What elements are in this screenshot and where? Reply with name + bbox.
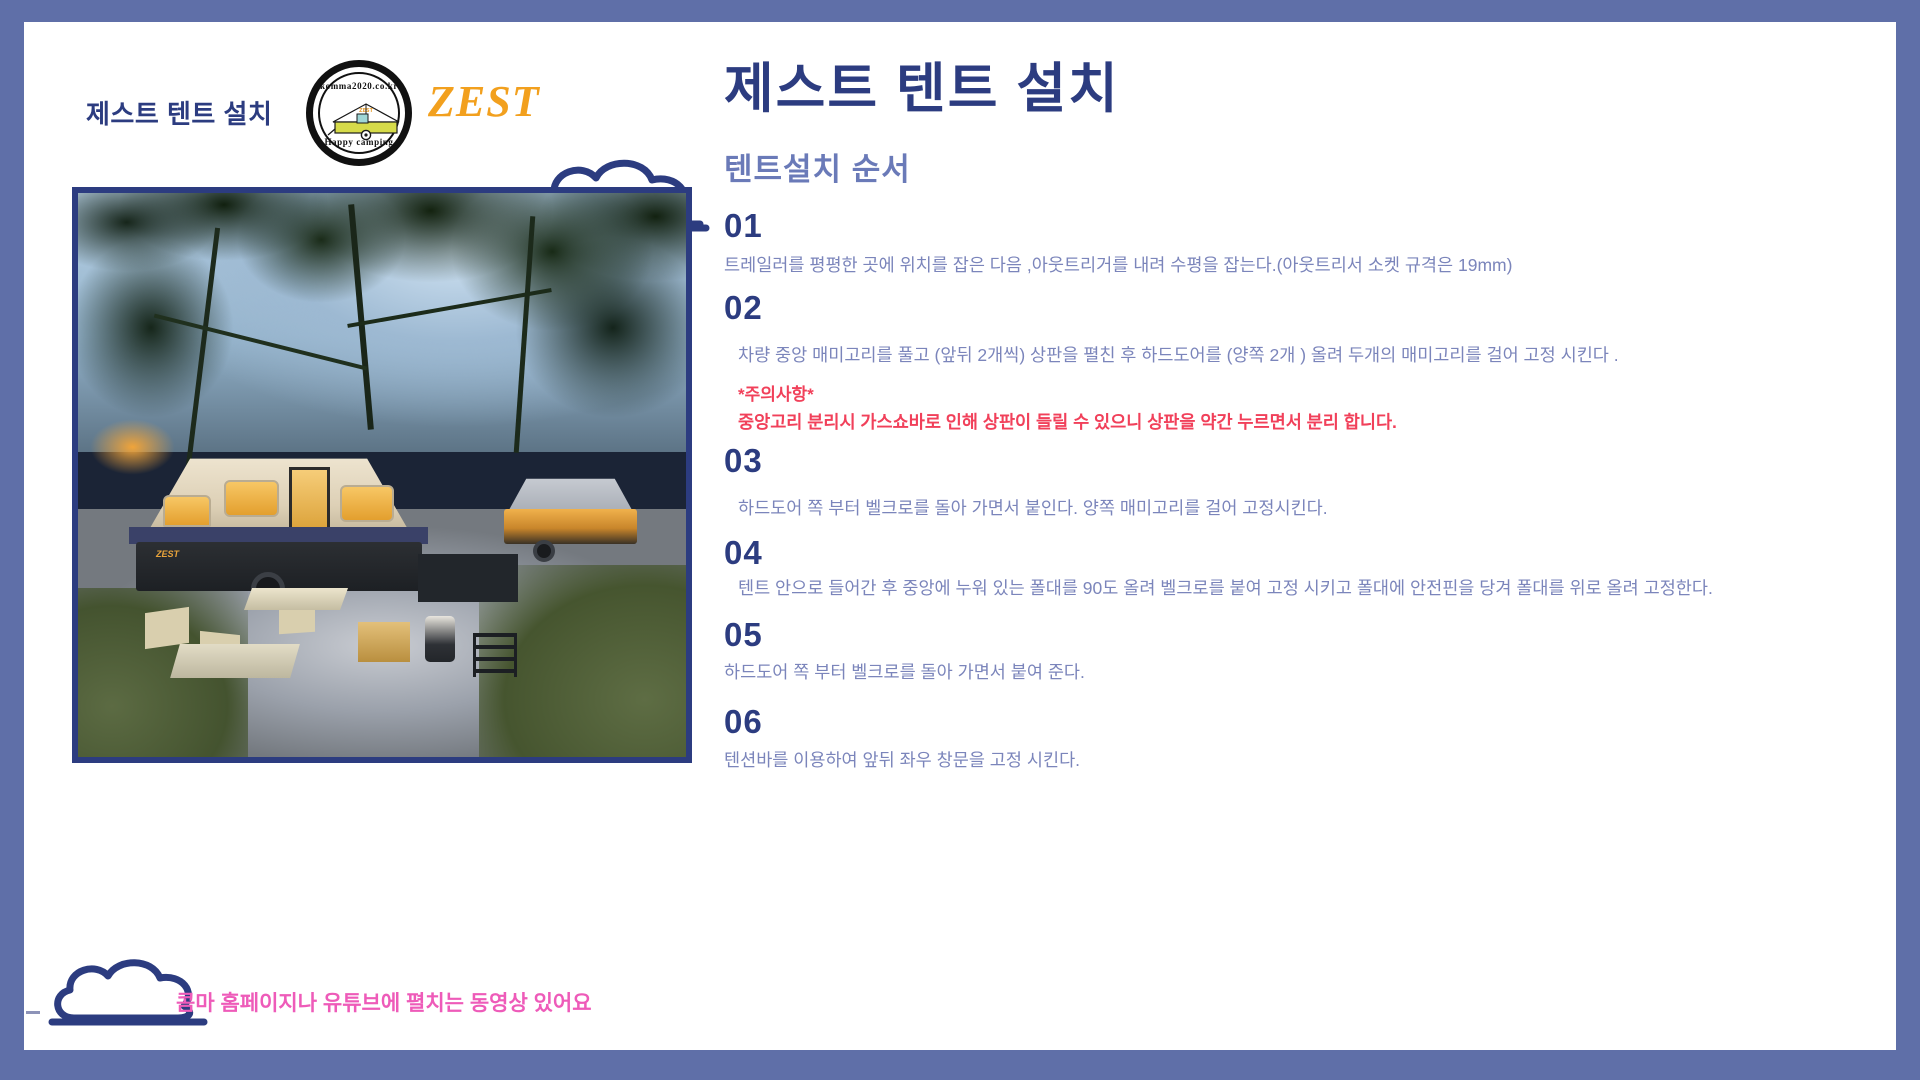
tent-window: [340, 485, 394, 522]
header-brand-title: 제스트 텐트 설치: [86, 94, 272, 131]
komma-logo: komma2020.co.kr ZEST Happy camping: [306, 60, 412, 166]
photo-camp-table: [170, 644, 300, 678]
step-description: 텐션바를 이용하여 앞뒤 좌우 창문을 고정 시킨다.: [724, 745, 1824, 776]
step-description: 텐트 안으로 들어간 후 중앙에 누워 있는 폴대를 90도 올려 벨크로를 붙…: [724, 573, 1824, 604]
zest-wordmark: ZEST: [428, 76, 540, 127]
photo-slide-out-kitchen: [418, 554, 518, 602]
step-description: 하드도어 쪽 부터 벨크로를 돌아 가면서 붙여 준다.: [724, 657, 1824, 688]
warning-title: *주의사항*: [724, 381, 1880, 408]
page-title: 제스트 텐트 설치: [724, 58, 1880, 120]
step-number: 05: [724, 614, 1880, 655]
instructions-panel: 제스트 텐트 설치 텐트설치 순서 01 트레일러를 평평한 곳에 위치를 잡은…: [724, 58, 1880, 775]
step-number: 06: [724, 701, 1880, 742]
svg-text:ZEST: ZEST: [359, 108, 374, 114]
section-subtitle: 텐트설치 순서: [724, 144, 1880, 189]
slide-canvas: 제스트 텐트 설치 komma2020.co.kr ZEST: [0, 0, 1920, 1080]
second-trailer-wheel: [533, 540, 555, 562]
photo-camp-table: [244, 588, 348, 610]
step-number: 03: [724, 440, 1880, 481]
logo-arc-top-text: komma2020.co.kr: [313, 81, 405, 91]
photo-water-jug: [425, 616, 455, 662]
step-item: 06 텐션바를 이용하여 앞뒤 좌우 창문을 고정 시킨다.: [724, 701, 1880, 775]
warning-text: 중앙고리 분리시 가스쇼바로 인해 상판이 들릴 수 있으니 상판을 약간 누르…: [724, 408, 1880, 438]
step-description: 차량 중앙 매미고리를 풀고 (앞뒤 2개씩) 상판을 펼친 후 하드도어를 (…: [724, 340, 1824, 371]
logo-circle: komma2020.co.kr ZEST Happy camping: [306, 60, 412, 166]
photo-equipment-stand: [473, 633, 517, 677]
second-tent-roof: [491, 475, 649, 513]
second-trailer-body: [504, 509, 637, 544]
tent-window: [163, 495, 211, 527]
step-item: 01 트레일러를 평평한 곳에 위치를 잡은 다음 ,아웃트리거를 내려 수평을…: [724, 205, 1880, 281]
tent-photo-frame: ZEST: [72, 187, 692, 763]
step-number: 01: [724, 205, 1880, 246]
tent-roof: [108, 452, 448, 529]
slide-card: 제스트 텐트 설치 komma2020.co.kr ZEST: [24, 22, 1896, 1050]
corner-mark: [26, 1011, 40, 1014]
step-item: 02 차량 중앙 매미고리를 풀고 (앞뒤 2개씩) 상판을 펼친 후 하드도어…: [724, 287, 1880, 438]
step-description: 트레일러를 평평한 곳에 위치를 잡은 다음 ,아웃트리거를 내려 수평을 잡는…: [724, 250, 1824, 281]
tent-window: [224, 480, 278, 517]
photo-main-trailer-tent: ZEST: [108, 452, 448, 576]
trailer-decal: ZEST: [156, 549, 179, 559]
photo-second-trailer-tent: [491, 475, 649, 548]
step-description: 하드도어 쪽 부터 벨크로를 돌아 가면서 붙인다. 양쪽 매미고리를 걸어 고…: [724, 493, 1824, 524]
tent-photo: ZEST: [78, 193, 686, 757]
logo-arc-bottom-text: Happy camping: [313, 137, 405, 147]
step-item: 03 하드도어 쪽 부터 벨크로를 돌아 가면서 붙인다. 양쪽 매미고리를 걸…: [724, 440, 1880, 524]
step-item: 04 텐트 안으로 들어간 후 중앙에 누워 있는 폴대를 90도 올려 벨크로…: [724, 532, 1880, 604]
video-caption: 콤마 홈페이지나 유튜브에 펼치는 동영상 있어요: [176, 987, 592, 1017]
step-item: 05 하드도어 쪽 부터 벨크로를 돌아 가면서 붙여 준다.: [724, 614, 1880, 688]
photo-camp-stove: [358, 622, 410, 662]
step-number: 02: [724, 287, 1880, 328]
step-number: 04: [724, 532, 1880, 573]
